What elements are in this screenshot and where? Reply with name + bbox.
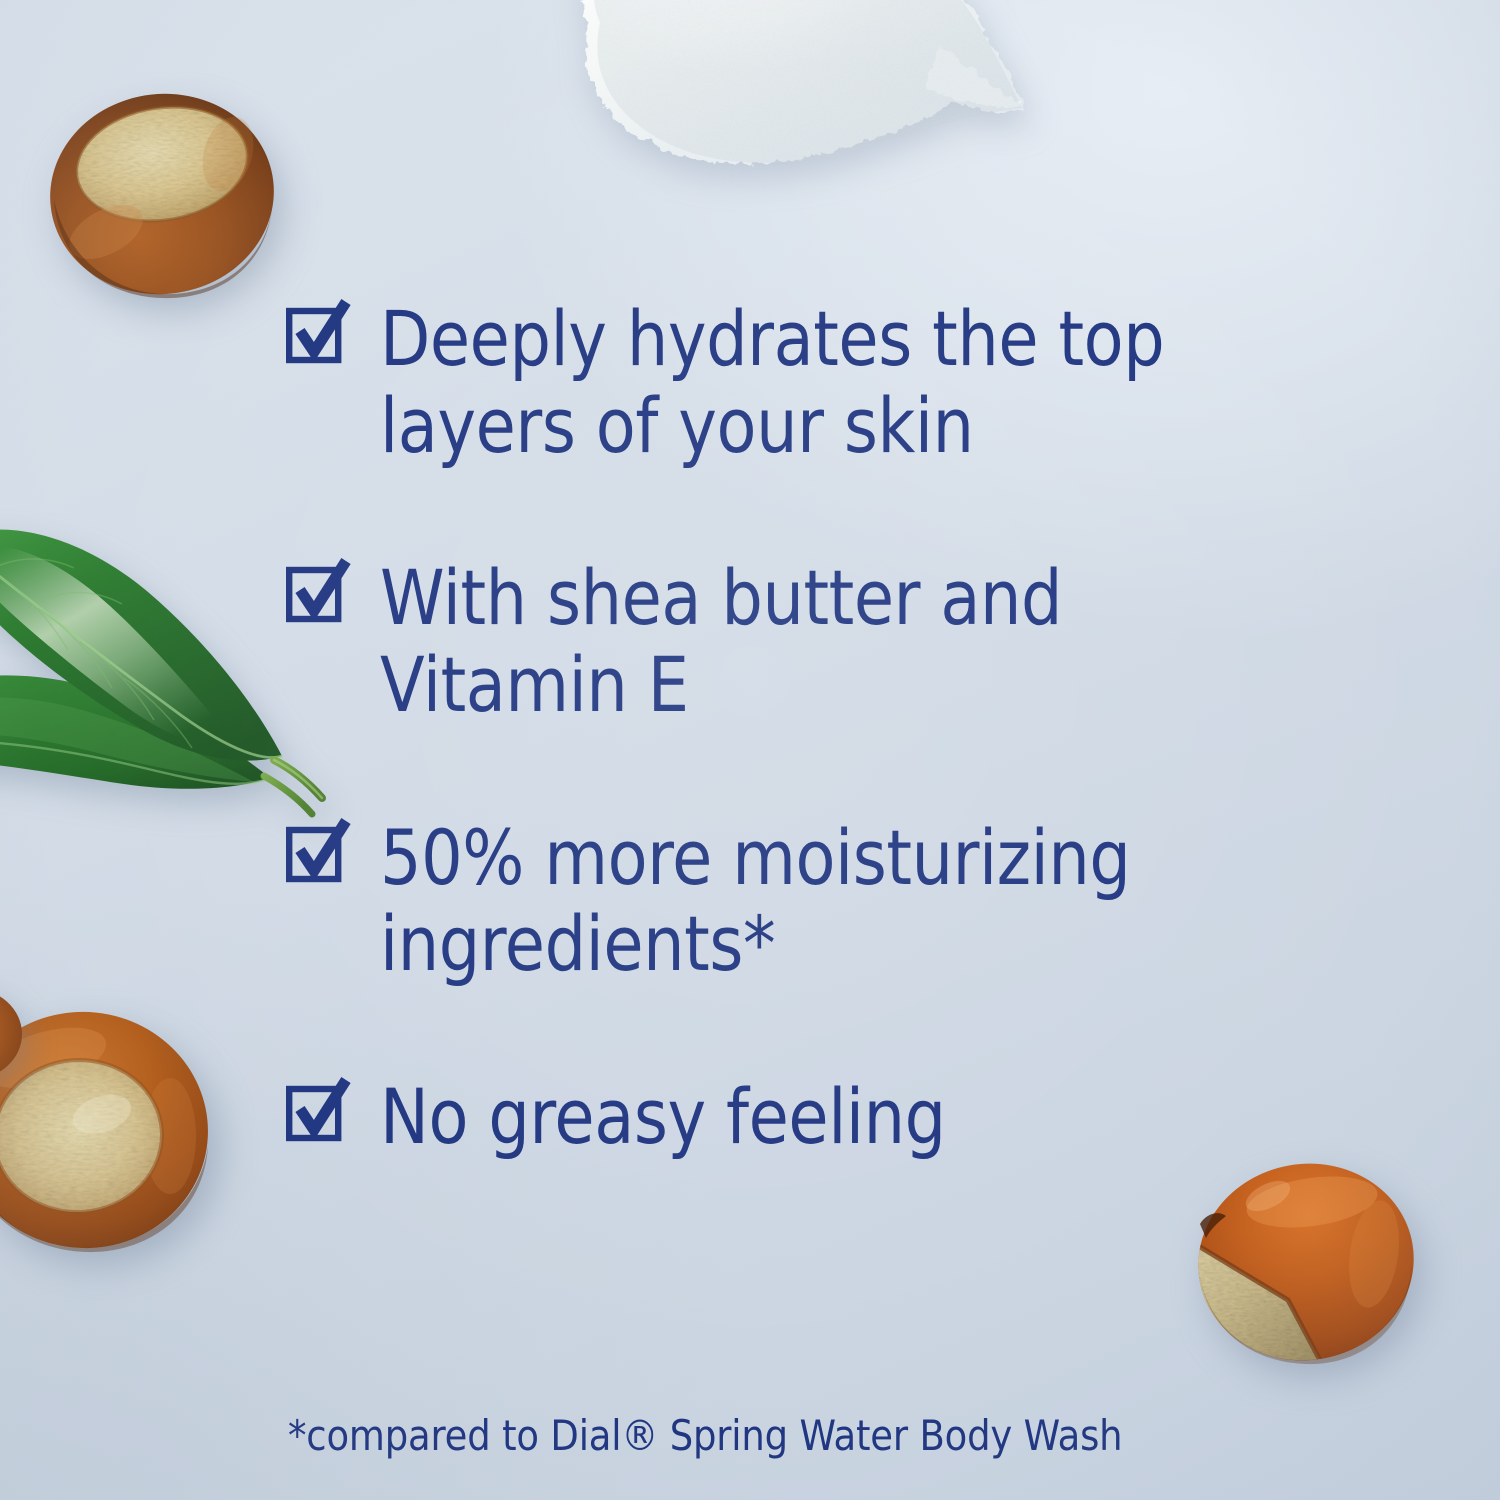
checkbox-checked-icon — [286, 561, 348, 623]
benefit-item: No greasy feeling — [286, 1074, 1466, 1161]
benefits-list: Deeply hydrates the top layers of your s… — [286, 296, 1466, 1160]
benefit-text: 50% more moisturizing ingredients* — [380, 815, 1314, 988]
macadamia-nut-bottom-left — [0, 1006, 220, 1254]
benefit-item: With shea butter and Vitamin E — [286, 555, 1466, 728]
footnote: *compared to Dial® Spring Water Body Was… — [288, 1411, 1122, 1461]
benefit-item: Deeply hydrates the top layers of your s… — [286, 296, 1466, 469]
benefit-text: No greasy feeling — [380, 1074, 1314, 1161]
benefit-text: With shea butter and Vitamin E — [380, 555, 1314, 728]
shea-butter-swatch — [470, 0, 1030, 234]
benefit-item: 50% more moisturizing ingredients* — [286, 815, 1466, 988]
checkbox-checked-icon — [286, 302, 348, 364]
checkbox-checked-icon — [286, 1080, 348, 1142]
benefit-text: Deeply hydrates the top layers of your s… — [380, 296, 1314, 469]
checkbox-checked-icon — [286, 821, 348, 883]
macadamia-nut-bottom-right — [1192, 1158, 1422, 1370]
product-benefits-image: Deeply hydrates the top layers of your s… — [0, 0, 1500, 1500]
green-leaves — [0, 510, 334, 840]
macadamia-nut-top-left — [42, 84, 282, 300]
macadamia-nut-edge-fragment — [0, 988, 28, 1080]
